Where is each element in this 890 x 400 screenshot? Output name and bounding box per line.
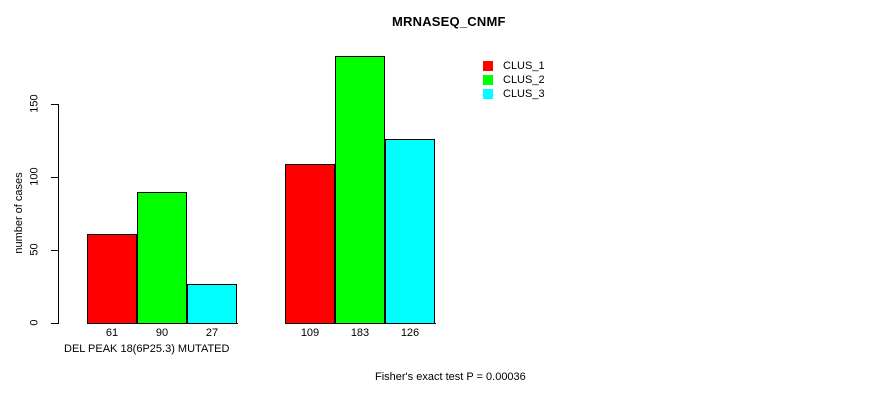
- bar-value-group1-clus1: 61: [87, 327, 137, 339]
- bar-value-group2-clus1: 109: [285, 327, 335, 339]
- legend-swatch-clus-1: [483, 61, 493, 71]
- y-axis-line: [58, 104, 59, 324]
- bar-group1-clus3: [187, 284, 237, 324]
- y-tick-label-50: 50: [30, 237, 41, 263]
- bar-value-group2-clus3: 126: [385, 327, 435, 339]
- y-tick-label-150-wrap: 150: [16, 98, 48, 110]
- y-tick-100: [51, 177, 58, 178]
- bar-value-group1-clus2: 90: [137, 327, 187, 339]
- y-tick-150: [51, 104, 58, 105]
- y-tick-label-150: 150: [30, 91, 41, 117]
- bar-group1-clus2: [137, 192, 187, 324]
- group-1-caption: DEL PEAK 18(6P25.3) MUTATED: [64, 343, 229, 355]
- statistical-test-note: Fisher's exact test P = 0.00036: [0, 371, 890, 383]
- bar-value-group1-clus3: 27: [187, 327, 237, 339]
- bar-group1-clus1: [87, 234, 137, 324]
- y-tick-label-0: 0: [30, 310, 41, 336]
- y-tick-label-0-wrap: 0: [16, 317, 48, 329]
- legend-label-clus-2: CLUS_2: [503, 74, 545, 86]
- y-axis-title: number of cases: [13, 153, 25, 273]
- y-tick-0: [51, 323, 58, 324]
- bar-value-group2-clus2: 183: [335, 327, 385, 339]
- legend-swatch-clus-2: [483, 75, 493, 85]
- chart-page: MRNASEQ_CNMF 150 100 50 0 number of case…: [0, 0, 890, 400]
- y-tick-label-100: 100: [30, 164, 41, 190]
- legend-swatch-clus-3: [483, 89, 493, 99]
- y-tick-50: [51, 250, 58, 251]
- bar-group2-clus3: [385, 139, 435, 324]
- legend-label-clus-1: CLUS_1: [503, 60, 545, 72]
- plot-area: 150 100 50 0 number of cases 61 90 27 DE…: [0, 0, 470, 400]
- bar-group2-clus2: [335, 56, 385, 324]
- legend-label-clus-3: CLUS_3: [503, 88, 545, 100]
- bar-group2-clus1: [285, 164, 335, 324]
